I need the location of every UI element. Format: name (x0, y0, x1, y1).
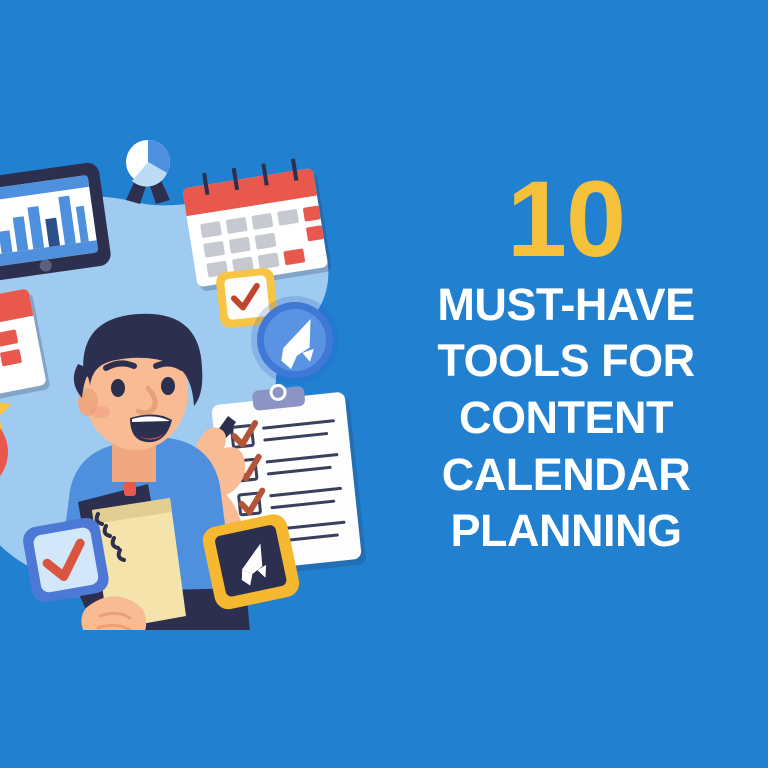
headline-line-2: TOOLS FOR (396, 333, 736, 390)
headline-line-5: PLANNING (396, 503, 736, 560)
tablet-bar-chart-icon (0, 161, 112, 282)
illustration-graphic (0, 130, 400, 630)
award-badge-icon (126, 140, 170, 204)
headline-line-4: CALENDAR (396, 447, 736, 504)
headline-number: 10 (396, 168, 736, 271)
poster-canvas: 10 MUST-HAVE TOOLS FOR CONTENT CALENDAR … (0, 0, 768, 768)
headline-line-1: MUST-HAVE (396, 277, 736, 334)
headline-line-3: CONTENT (396, 390, 736, 447)
headline-block: 10 MUST-HAVE TOOLS FOR CONTENT CALENDAR … (396, 168, 736, 560)
rocket-square-icon (200, 512, 302, 612)
checkbox-blue-icon (21, 516, 111, 604)
rocket-circle-icon (251, 296, 339, 384)
